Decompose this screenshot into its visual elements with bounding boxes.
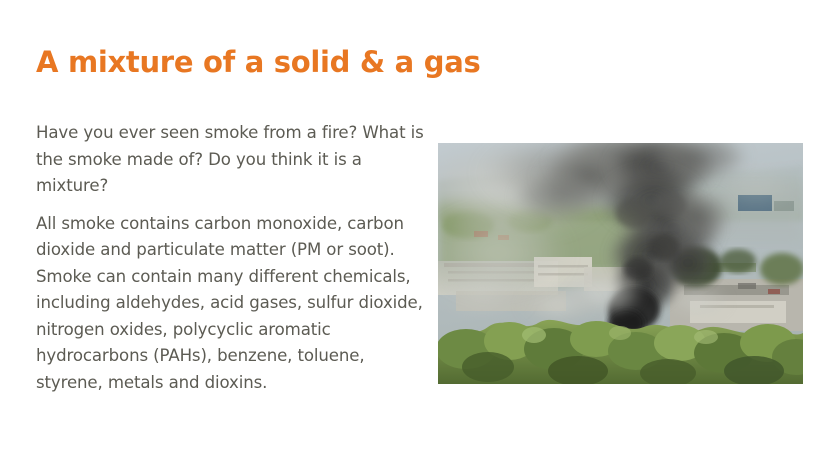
smoke-plume-illustration xyxy=(438,143,803,384)
paragraph-intro-questions: Have you ever seen smoke from a fire? Wh… xyxy=(36,120,424,200)
smoke-plume-photo xyxy=(438,143,803,384)
slide-canvas: A mixture of a solid & a gas Have you ev… xyxy=(0,0,828,466)
page-title: A mixture of a solid & a gas xyxy=(36,46,516,79)
body-text-column: Have you ever seen smoke from a fire? Wh… xyxy=(36,120,424,396)
paragraph-smoke-composition: All smoke contains carbon monoxide, carb… xyxy=(36,211,424,397)
